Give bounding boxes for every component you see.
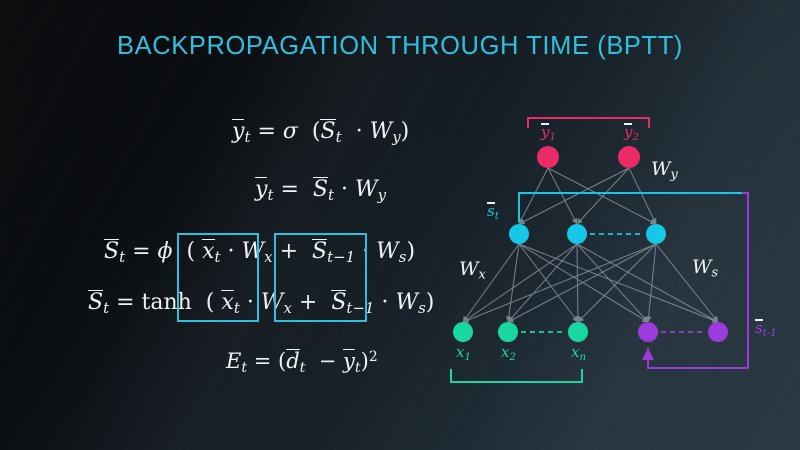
output-nodes bbox=[537, 146, 640, 168]
node-x1[interactable] bbox=[453, 322, 473, 342]
node-y1[interactable] bbox=[537, 146, 559, 168]
label-weight-ws: Ws bbox=[692, 258, 718, 281]
node-x2[interactable] bbox=[498, 322, 518, 342]
label-state-t: st bbox=[487, 203, 499, 222]
input-bracket bbox=[451, 369, 582, 382]
label-y2: y2 bbox=[624, 124, 639, 143]
connections-hidden-to-output bbox=[519, 168, 656, 224]
slide-root: BACKPROPAGATION THROUGH TIME (BPTT) yt =… bbox=[0, 0, 800, 450]
label-weight-wx: Wx bbox=[459, 260, 486, 283]
label-x1: x1 bbox=[456, 345, 471, 363]
input-nodes bbox=[453, 322, 588, 342]
node-xn[interactable] bbox=[568, 322, 588, 342]
hidden-nodes bbox=[509, 224, 666, 244]
node-hidden-3[interactable] bbox=[646, 224, 666, 244]
node-context-1[interactable] bbox=[638, 322, 658, 342]
node-y2[interactable] bbox=[618, 146, 640, 168]
connections-input-to-hidden bbox=[463, 244, 718, 322]
label-x2: x2 bbox=[501, 345, 516, 363]
label-state-t-minus-1: st-1 bbox=[755, 320, 777, 339]
label-xn: xn bbox=[571, 345, 586, 363]
node-context-2[interactable] bbox=[708, 322, 728, 342]
node-hidden-1[interactable] bbox=[509, 224, 529, 244]
node-hidden-2[interactable] bbox=[567, 224, 587, 244]
label-weight-wy: Wy bbox=[651, 160, 678, 183]
network-diagram bbox=[0, 0, 800, 450]
label-y1: y1 bbox=[541, 124, 556, 143]
